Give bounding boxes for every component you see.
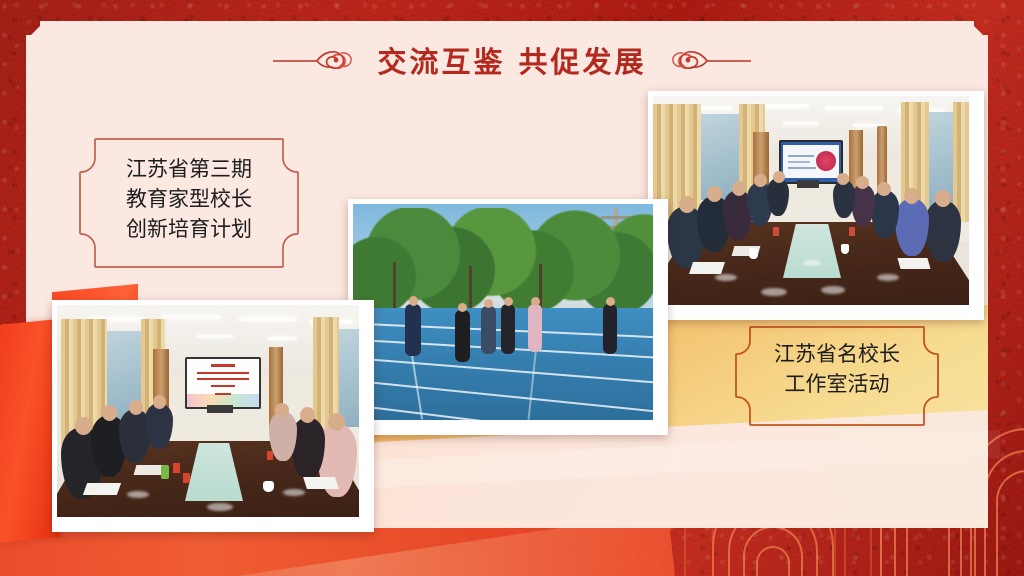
cloud-ornament-right-icon [667,47,751,73]
slide-title-row: 交流互鉴 共促发展 [0,36,1024,84]
left-ribbon-accent-front [0,319,60,543]
page-title: 交流互鉴 共促发展 [377,39,646,81]
caption-box-right: 江苏省名校长 工作室活动 [735,326,939,426]
caption-right-line-1: 江苏省名校长 [735,340,939,370]
caption-left-line-1: 江苏省第三期 [78,155,300,185]
caption-right-line-2: 工作室活动 [735,370,939,400]
caption-box-left: 江苏省第三期 教育家型校长 创新培育计划 [78,138,300,268]
cloud-ornament-left-icon [273,47,357,73]
photo-meeting-room-bottom-left[interactable] [52,300,374,532]
photo-school-track-center[interactable] [348,199,668,435]
photo-meeting-room-top-right[interactable] [648,91,984,320]
caption-left-line-3: 创新培育计划 [78,215,300,245]
slide-canvas: 交流互鉴 共促发展 江苏省第三期 教育家型校长 创新培育计划 江苏省名校长 工作… [0,0,1024,576]
caption-left-line-2: 教育家型校长 [78,185,300,215]
